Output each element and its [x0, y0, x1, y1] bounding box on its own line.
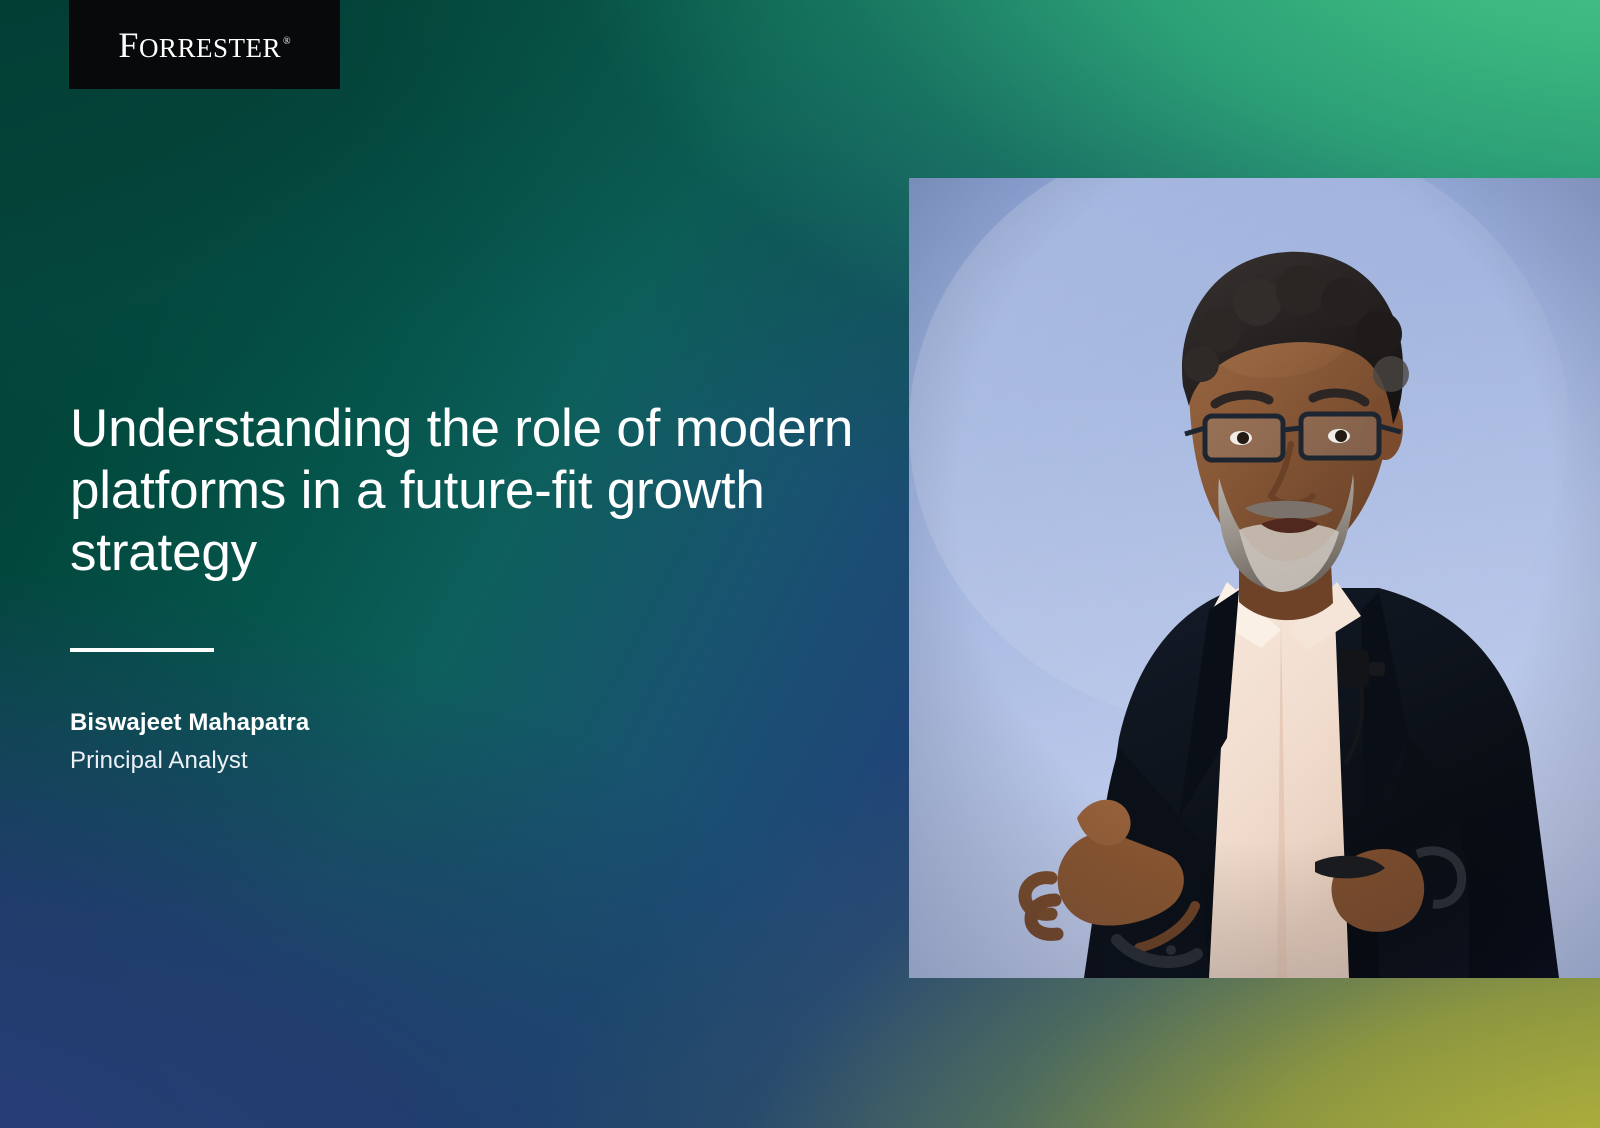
speaker-photo-illustration — [909, 178, 1600, 978]
title-slide: FORRESTER® Understanding the role of mod… — [0, 0, 1600, 1128]
speaker-role: Principal Analyst — [70, 746, 870, 776]
forrester-wordmark: FORRESTER® — [118, 27, 290, 63]
forrester-logo-plate: FORRESTER® — [69, 0, 340, 89]
title-divider — [70, 648, 214, 652]
slide-text-block: Understanding the role of modern platfor… — [70, 398, 870, 776]
speaker-photo — [909, 178, 1600, 978]
registered-trademark-icon: ® — [283, 36, 291, 47]
page-title: Understanding the role of modern platfor… — [70, 398, 860, 584]
forrester-wordmark-initial: F — [118, 25, 139, 65]
photo-vignette — [909, 178, 1600, 978]
speaker-name: Biswajeet Mahapatra — [70, 708, 870, 738]
forrester-wordmark-body: ORRESTER — [139, 33, 281, 63]
